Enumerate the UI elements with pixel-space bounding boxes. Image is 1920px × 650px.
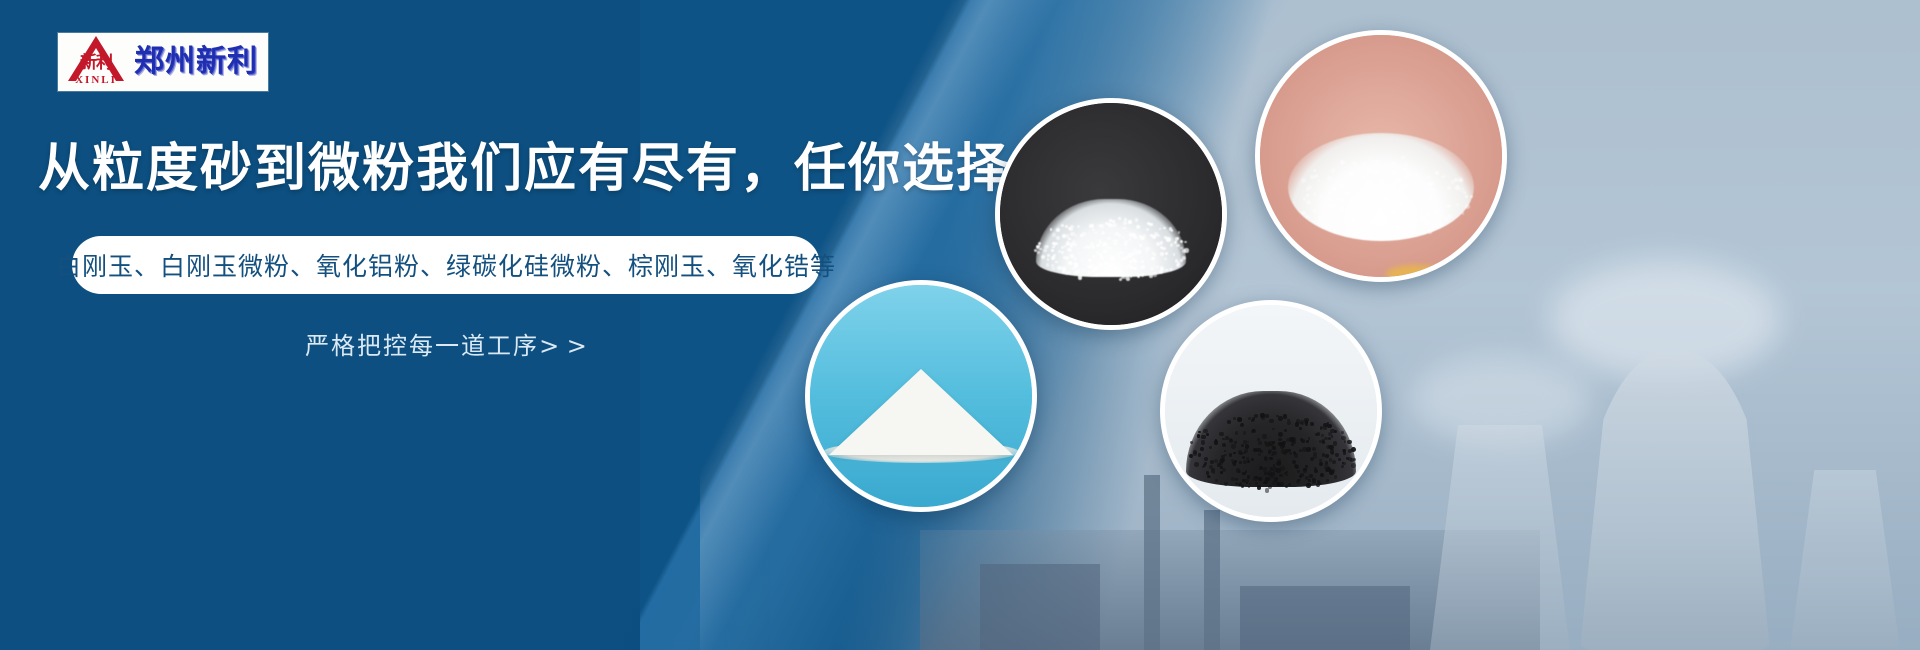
grain-speck — [1458, 177, 1463, 182]
grain-speck — [1236, 468, 1240, 472]
grain-speck — [1078, 275, 1082, 279]
grain-speck — [1118, 234, 1121, 237]
grain-speck — [1141, 273, 1145, 277]
grain-speck — [1392, 171, 1396, 175]
grain-speck — [1335, 453, 1338, 456]
grain-speck — [1096, 239, 1098, 241]
grain-speck — [1074, 271, 1077, 274]
grain-speck — [1041, 255, 1045, 259]
grain-speck — [1119, 270, 1122, 273]
grain-speck — [1312, 447, 1316, 451]
grain-speck — [1213, 472, 1216, 475]
grain-speck — [1225, 436, 1228, 439]
grain-speck — [1129, 238, 1132, 241]
grain-speck — [1133, 260, 1137, 264]
grain-speck — [1331, 452, 1334, 455]
grain-speck — [1318, 179, 1321, 182]
grain-speck — [1262, 434, 1266, 438]
grain-speck — [1118, 217, 1121, 220]
grain-speck — [1092, 269, 1095, 272]
grain-speck — [1247, 475, 1251, 479]
grain-speck — [1120, 251, 1124, 255]
grain-speck — [1092, 255, 1095, 258]
grain-speck — [1044, 245, 1048, 249]
grain-speck — [1253, 448, 1258, 453]
grain-speck — [1308, 479, 1311, 482]
product-photo-white-fused-alumina-grit[interactable] — [995, 98, 1227, 330]
grain-speck — [1329, 458, 1333, 462]
grain-speck — [1258, 477, 1262, 481]
hero-headline: 从粒度砂到微粉我们应有尽有，任你选择 — [38, 138, 998, 200]
grain-speck — [1269, 419, 1273, 423]
grain-speck — [1396, 225, 1400, 229]
grain-speck — [1382, 199, 1385, 202]
grain-speck — [1278, 432, 1283, 437]
grain-speck — [1121, 257, 1125, 261]
grain-speck — [1246, 482, 1249, 485]
grain-speck — [1313, 193, 1316, 196]
grain-speck — [1089, 224, 1093, 228]
grain-speck — [1107, 273, 1109, 275]
grain-speck — [1370, 219, 1375, 224]
grain-speck — [1247, 441, 1249, 443]
grain-speck — [1133, 267, 1136, 270]
grain-speck — [1233, 417, 1237, 421]
grain-speck — [1092, 229, 1094, 231]
grain-speck — [1325, 454, 1329, 458]
grain-speck — [1365, 183, 1370, 188]
grain-speck — [1095, 266, 1098, 269]
grain-speck — [1150, 267, 1153, 270]
grain-speck — [1055, 261, 1058, 264]
grain-speck — [1088, 246, 1090, 248]
grain-speck — [1406, 201, 1410, 205]
grain-speck — [1322, 453, 1325, 456]
product-list-pill[interactable]: 白刚玉、白刚玉微粉、氧化铝粉、绿碳化硅微粉、棕刚玉、氧化锆等 — [72, 236, 820, 294]
grain-speck — [1350, 186, 1355, 191]
grain-speck — [1160, 267, 1164, 271]
grain-speck — [1374, 169, 1379, 174]
grain-speck — [1403, 190, 1408, 195]
grain-speck — [1244, 449, 1248, 453]
grain-speck — [1306, 483, 1310, 487]
grain-speck — [1103, 250, 1106, 253]
grain-speck — [1390, 183, 1395, 188]
grain-speck — [1331, 187, 1335, 191]
grain-speck — [1237, 417, 1242, 422]
powder-pile — [1288, 133, 1474, 241]
grain-speck — [1463, 191, 1466, 194]
grain-speck — [1332, 229, 1337, 234]
grain-speck — [1319, 462, 1323, 466]
grain-speck — [1334, 475, 1337, 478]
promo-banner: 新利 XINLI 郑州新利 从粒度砂到微粉我们应有尽有，任你选择 白刚玉、白刚玉… — [0, 0, 1920, 650]
grain-speck — [1092, 246, 1095, 249]
grain-speck — [1410, 231, 1414, 235]
grain-speck — [1110, 248, 1113, 251]
company-logo[interactable]: 新利 XINLI 郑州新利 — [58, 33, 268, 91]
grain-speck — [1062, 267, 1066, 271]
grain-speck — [1405, 163, 1408, 166]
grain-speck — [1293, 451, 1296, 454]
grain-speck — [1299, 427, 1302, 430]
grain-speck — [1208, 476, 1211, 479]
grain-speck — [1194, 462, 1199, 467]
grain-speck — [1364, 175, 1367, 178]
grain-speck — [1329, 198, 1332, 201]
grain-speck — [1301, 178, 1306, 183]
grain-speck — [1263, 467, 1268, 472]
grain-speck — [1201, 440, 1206, 445]
grain-speck — [1306, 447, 1311, 452]
grain-speck — [1141, 260, 1144, 263]
grain-speck — [1258, 453, 1261, 456]
grain-speck — [1122, 236, 1125, 239]
grain-speck — [1326, 479, 1329, 482]
grain-speck — [1421, 196, 1424, 199]
grain-speck — [1070, 232, 1074, 236]
grain-speck — [1319, 194, 1323, 198]
grain-speck — [1245, 444, 1250, 449]
grain-speck — [1353, 162, 1357, 166]
grain-speck — [1062, 234, 1066, 238]
grain-speck — [1128, 222, 1131, 225]
grain-speck — [1352, 218, 1355, 221]
grain-speck — [1367, 168, 1371, 172]
grain-speck — [1454, 178, 1458, 182]
grain-speck — [1204, 457, 1208, 461]
grain-speck — [1257, 438, 1260, 441]
grain-speck — [1180, 240, 1183, 243]
grain-speck — [1341, 465, 1344, 468]
grain-speck — [1265, 477, 1269, 481]
grain-speck — [1341, 431, 1344, 434]
grain-speck — [1077, 225, 1080, 228]
grain-speck — [1339, 207, 1343, 211]
grain-speck — [1241, 444, 1244, 447]
grain-speck — [1322, 441, 1325, 444]
grain-speck — [1095, 273, 1099, 277]
grain-speck — [1386, 201, 1389, 204]
grain-speck — [1231, 444, 1236, 449]
grain-speck — [1139, 235, 1142, 238]
grain-speck — [1445, 191, 1448, 194]
grain-speck — [1110, 256, 1114, 260]
grain-speck — [1160, 246, 1163, 249]
grain-speck — [1257, 485, 1261, 489]
grain-speck — [1229, 453, 1232, 456]
grain-speck — [1377, 196, 1380, 199]
grain-speck — [1061, 251, 1064, 254]
grain-speck — [1442, 175, 1445, 178]
grain-speck — [1399, 202, 1404, 207]
grain-speck — [1251, 419, 1254, 422]
grain-speck — [1404, 167, 1409, 172]
grain-speck — [1347, 440, 1352, 445]
product-photo-white-alumina-micropowder[interactable] — [1255, 30, 1507, 282]
grain-speck — [1165, 269, 1167, 271]
grain-speck — [1346, 215, 1349, 218]
grain-speck — [1334, 430, 1337, 433]
grain-speck — [1142, 265, 1146, 269]
grain-speck — [1198, 453, 1201, 456]
grain-speck — [1189, 454, 1193, 458]
grain-speck — [1068, 248, 1072, 252]
grain-speck — [1201, 435, 1206, 440]
grain-speck — [1276, 462, 1279, 465]
grain-speck — [1331, 168, 1335, 172]
grain-speck — [1238, 483, 1241, 486]
grain-speck — [1294, 464, 1298, 468]
grain-speck — [1268, 441, 1273, 446]
grain-speck — [1209, 446, 1213, 450]
grain-speck — [1286, 474, 1289, 477]
grain-speck — [1190, 441, 1193, 444]
grain-speck — [1288, 483, 1291, 486]
chevron-right-icon: > > — [539, 332, 587, 360]
grain-speck — [1254, 414, 1258, 418]
grain-speck — [1082, 269, 1085, 272]
grain-speck — [1160, 252, 1164, 256]
grain-speck — [1314, 469, 1318, 473]
grain-speck — [1434, 210, 1437, 213]
grain-speck — [1407, 210, 1411, 214]
grain-speck — [1260, 450, 1263, 453]
grain-speck — [1425, 221, 1430, 226]
grain-speck — [1369, 157, 1372, 160]
grain-speck — [1312, 209, 1316, 213]
grain-speck — [1462, 212, 1465, 215]
powder-cone — [829, 369, 1013, 455]
grain-speck — [1095, 232, 1097, 234]
grain-speck — [1037, 251, 1040, 254]
grain-speck — [1221, 458, 1225, 462]
grain-speck — [1255, 476, 1258, 479]
grain-speck — [1400, 184, 1404, 188]
grain-speck — [1222, 468, 1226, 472]
grain-speck — [1069, 227, 1073, 231]
grain-speck — [1351, 463, 1356, 468]
grain-speck — [1133, 235, 1137, 239]
grain-speck — [1197, 435, 1200, 438]
grain-speck — [1411, 222, 1415, 226]
grain-speck — [1305, 422, 1308, 425]
grain-speck — [1184, 248, 1188, 252]
grain-speck — [1114, 243, 1116, 245]
grain-speck — [1177, 237, 1179, 239]
grain-speck — [1404, 184, 1407, 187]
grain-speck — [1137, 238, 1139, 240]
grain-speck — [1390, 227, 1393, 230]
grain-speck — [1426, 175, 1430, 179]
grain-speck — [1107, 237, 1110, 240]
grain-speck — [1287, 421, 1292, 426]
grain-speck — [1219, 432, 1223, 436]
grain-speck — [1169, 268, 1172, 271]
grain-speck — [1203, 464, 1206, 467]
grain-speck — [1125, 247, 1128, 250]
grain-speck — [1272, 428, 1274, 430]
grain-speck — [1137, 250, 1140, 253]
grain-speck — [1124, 218, 1128, 222]
grain-speck — [1306, 200, 1311, 205]
grain-speck — [1230, 439, 1233, 442]
grain-speck — [1081, 259, 1083, 261]
grain-speck — [1052, 267, 1055, 270]
grain-speck — [1173, 253, 1175, 255]
grain-speck — [1065, 272, 1068, 275]
grain-speck — [1113, 223, 1117, 227]
grain-speck — [1429, 181, 1434, 186]
grain-speck — [1338, 458, 1341, 461]
grain-speck — [1380, 216, 1384, 220]
grain-speck — [1143, 234, 1146, 237]
grain-speck — [1300, 473, 1303, 476]
grain-speck — [1073, 257, 1077, 261]
grain-speck — [1100, 256, 1103, 259]
grain-speck — [1142, 247, 1145, 250]
grain-speck — [1227, 420, 1230, 423]
grain-speck — [1391, 161, 1395, 165]
grain-speck — [1283, 414, 1288, 419]
grain-speck — [1278, 416, 1283, 421]
grain-speck — [1075, 235, 1077, 237]
grain-speck — [1056, 228, 1060, 232]
grain-speck — [1149, 223, 1152, 226]
grain-speck — [1319, 440, 1322, 443]
grain-speck — [1053, 254, 1056, 257]
grain-speck — [1429, 201, 1432, 204]
grain-speck — [1235, 478, 1238, 481]
grain-speck — [1156, 266, 1159, 269]
grain-speck — [1291, 439, 1295, 443]
grain-speck — [1373, 160, 1377, 164]
grain-speck — [1126, 266, 1129, 269]
grain-speck — [1224, 482, 1228, 486]
grain-speck — [1339, 198, 1343, 202]
grain-speck — [1159, 228, 1162, 231]
grain-speck — [1240, 423, 1245, 428]
grain-speck — [1265, 414, 1269, 418]
grain-speck — [1465, 204, 1470, 209]
grain-speck — [1136, 225, 1140, 229]
grain-speck — [1099, 264, 1103, 268]
grain-speck — [1321, 434, 1324, 437]
grain-speck — [1255, 482, 1257, 484]
grain-speck — [1308, 437, 1310, 439]
grain-speck — [1150, 234, 1153, 237]
grain-speck — [1305, 215, 1309, 219]
grain-speck — [1332, 460, 1336, 464]
triangle-logo-icon: 新利 XINLI — [64, 34, 128, 90]
grain-speck — [1289, 452, 1292, 455]
grain-speck — [1039, 248, 1041, 250]
grain-speck — [1146, 228, 1149, 231]
grain-speck — [1422, 199, 1425, 202]
grain-speck — [1248, 486, 1250, 488]
grain-speck — [1280, 466, 1285, 471]
grain-speck — [1234, 441, 1237, 444]
grain-speck — [1047, 258, 1050, 261]
grain-speck — [1267, 471, 1272, 476]
grain-speck — [1231, 459, 1234, 462]
grain-speck — [1056, 236, 1060, 240]
product-photo-black-silicon-carbide-grit[interactable] — [1160, 300, 1382, 522]
grain-speck — [1447, 204, 1451, 208]
grain-speck — [1224, 450, 1226, 452]
grain-speck — [1242, 472, 1246, 476]
grain-speck — [1156, 234, 1159, 237]
grain-speck — [1396, 178, 1401, 183]
grain-speck — [1320, 427, 1323, 430]
grain-speck — [1306, 440, 1309, 443]
grain-speck — [1269, 457, 1272, 460]
logo-mark-cn-text: 新利 — [63, 54, 129, 72]
grain-speck — [1331, 435, 1334, 438]
grain-speck — [1396, 189, 1400, 193]
grain-speck — [1315, 174, 1318, 177]
grain-speck — [1310, 422, 1314, 426]
grain-speck — [1391, 211, 1394, 214]
grain-speck — [1070, 254, 1074, 258]
grain-speck — [1052, 246, 1054, 248]
grain-speck — [1282, 443, 1285, 446]
grain-speck — [1177, 263, 1180, 266]
grain-speck — [1310, 457, 1314, 461]
grain-speck — [1051, 249, 1054, 252]
grain-speck — [1271, 454, 1274, 457]
logo-wordmark: 郑州新利 — [134, 47, 258, 77]
grain-speck — [1072, 267, 1075, 270]
grain-speck — [1184, 241, 1187, 244]
grain-speck — [1063, 256, 1065, 258]
grain-speck — [1163, 227, 1165, 229]
grain-speck — [1343, 191, 1346, 194]
grain-speck — [1215, 479, 1218, 482]
grain-speck — [1036, 246, 1039, 249]
grain-speck — [1300, 420, 1305, 425]
grain-speck — [1123, 227, 1126, 230]
grain-speck — [1447, 214, 1452, 219]
grain-speck — [1306, 188, 1309, 191]
grain-speck — [1340, 160, 1345, 165]
grain-speck — [1344, 440, 1347, 443]
grain-speck — [1247, 460, 1250, 463]
grain-speck — [1328, 437, 1332, 441]
grain-speck — [1166, 238, 1168, 240]
grain-speck — [1328, 191, 1331, 194]
grain-speck — [1233, 463, 1236, 466]
grain-speck — [1056, 242, 1058, 244]
grain-speck — [1064, 245, 1067, 248]
grain-speck — [1319, 482, 1322, 485]
grain-speck — [1435, 171, 1439, 175]
grain-speck — [1354, 231, 1358, 235]
grain-speck — [1406, 173, 1411, 178]
grain-speck — [1343, 451, 1346, 454]
grain-speck — [1078, 252, 1081, 255]
grain-speck — [1264, 441, 1267, 444]
grain-speck — [1318, 216, 1322, 220]
grain-speck — [1135, 218, 1138, 221]
grain-speck — [1164, 258, 1166, 260]
grain-speck — [1306, 194, 1309, 197]
grain-speck — [1415, 173, 1418, 176]
hero-tagline-link[interactable]: 严格把控每一道工序> > — [72, 326, 820, 361]
grain-speck — [1296, 419, 1300, 423]
grain-speck — [1224, 454, 1226, 456]
grain-speck — [1382, 231, 1385, 234]
